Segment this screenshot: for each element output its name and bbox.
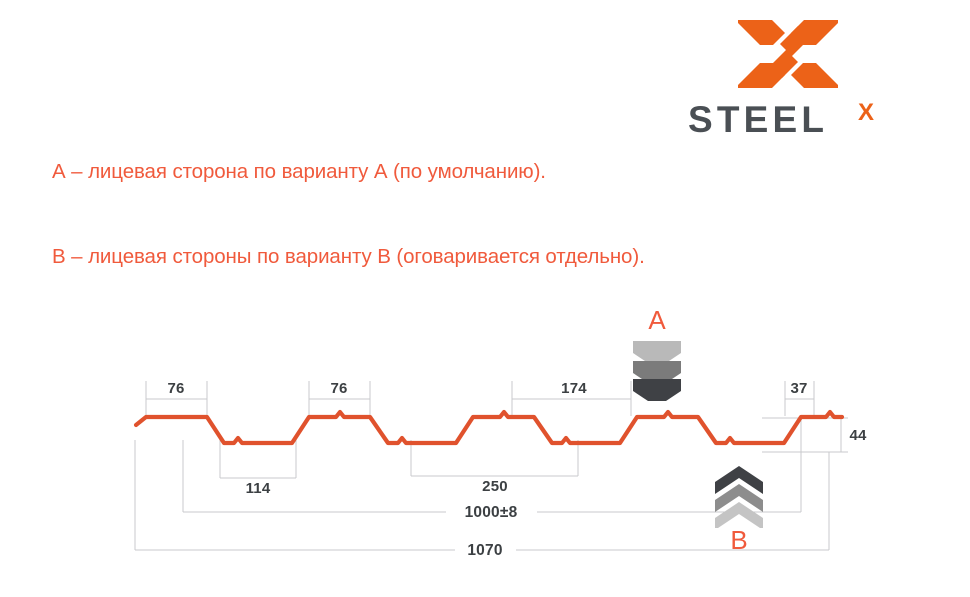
chevron-up-icon xyxy=(713,466,765,528)
dimension-label-250: 250 xyxy=(482,478,508,495)
dimension-label-114: 114 xyxy=(246,480,271,497)
dimension-label-37: 37 xyxy=(790,380,807,397)
dimension-label-174: 174 xyxy=(561,380,587,397)
dimension-label-1070-total-width: 1070 xyxy=(467,542,502,560)
dimension-label-76-first-crest: 76 xyxy=(167,380,184,397)
trapezoidal-profile-line xyxy=(136,412,842,443)
section-marker-a-label: А xyxy=(648,305,665,336)
dimension-label-1000-useful-width: 1000±8 xyxy=(465,504,518,522)
chevron-down-icon xyxy=(631,339,683,401)
section-marker-b-label: В xyxy=(730,525,747,556)
dimension-label-44-height: 44 xyxy=(849,427,866,444)
dimension-label-76-second-crest: 76 xyxy=(330,380,347,397)
